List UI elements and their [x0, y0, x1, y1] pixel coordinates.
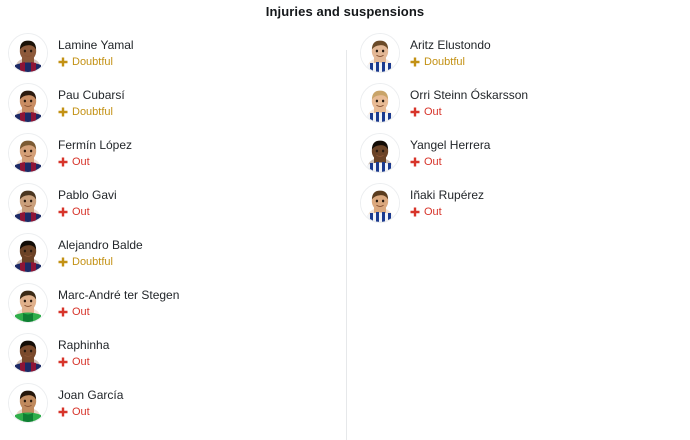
status-badge: Out: [410, 206, 484, 219]
player-info: Orri Steinn ÓskarssonOut: [410, 88, 528, 119]
player-columns: Lamine YamalDoubtfulPau CubarsíDoubtfulF…: [0, 20, 690, 428]
status-badge: Doubtful: [410, 56, 491, 69]
player-info: Aritz ElustondoDoubtful: [410, 38, 491, 69]
avatar: [360, 83, 400, 123]
avatar: [360, 183, 400, 223]
status-badge: Out: [410, 156, 490, 169]
column-divider: [346, 50, 347, 440]
avatar: [8, 33, 48, 73]
page-title: Injuries and suspensions: [0, 0, 690, 20]
player-row[interactable]: Iñaki RupérezOut: [360, 178, 690, 228]
player-name: Aritz Elustondo: [410, 38, 491, 53]
avatar: [360, 33, 400, 73]
injuries-and-suspensions-panel: Injuries and suspensions Lamine YamalDou…: [0, 0, 690, 427]
player-info: Iñaki RupérezOut: [410, 188, 484, 219]
avatar: [8, 283, 48, 323]
status-label: Out: [424, 156, 442, 169]
status-label: Doubtful: [424, 56, 465, 69]
player-name: Orri Steinn Óskarsson: [410, 88, 528, 103]
avatar: [8, 233, 48, 273]
medical-cross-icon: [410, 107, 420, 117]
avatar: [8, 383, 48, 423]
player-name: Yangel Herrera: [410, 138, 490, 153]
status-badge: Out: [410, 106, 528, 119]
medical-cross-icon: [410, 207, 420, 217]
player-row[interactable]: Aritz ElustondoDoubtful: [360, 28, 690, 78]
status-label: Out: [424, 106, 442, 119]
avatar: [360, 133, 400, 173]
avatar: [8, 83, 48, 123]
medical-cross-icon: [410, 157, 420, 167]
player-row[interactable]: Orri Steinn ÓskarssonOut: [360, 78, 690, 128]
medical-cross-icon: [410, 57, 420, 67]
avatar: [8, 183, 48, 223]
player-info: Yangel HerreraOut: [410, 138, 490, 169]
status-label: Out: [424, 206, 442, 219]
avatar: [8, 133, 48, 173]
avatar: [8, 333, 48, 373]
player-name: Iñaki Rupérez: [410, 188, 484, 203]
away-team-injury-list: Aritz ElustondoDoubtfulOrri Steinn Óskar…: [0, 28, 690, 428]
player-row[interactable]: Yangel HerreraOut: [360, 128, 690, 178]
